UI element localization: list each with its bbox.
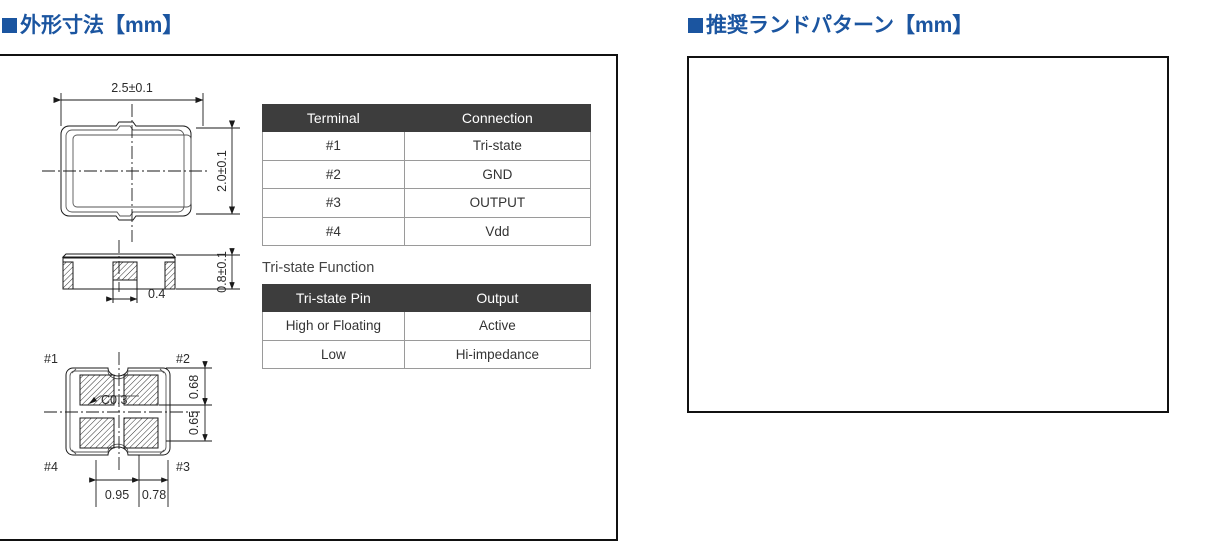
- column-header-tristate-pin: Tri-state Pin: [263, 285, 405, 312]
- bottom-view-chamfer-label: C0.3: [101, 393, 127, 407]
- tristate-function-label: Tri-state Function: [262, 260, 374, 276]
- table-header-row: Terminal Connection: [263, 105, 591, 132]
- table-row: Low Hi-impedance: [263, 340, 591, 369]
- top-view-drawing: 2.5±0.1 2.0±0.1: [42, 81, 240, 242]
- side-view-height-dim: 0.8±0.1: [215, 251, 229, 293]
- cell-output: Hi-impedance: [404, 340, 590, 369]
- side-view-drawing: 0.4 0.8±0.1: [63, 240, 240, 303]
- column-header-terminal: Terminal: [263, 105, 405, 132]
- cell-tristate-pin: Low: [263, 340, 405, 369]
- column-header-connection: Connection: [404, 105, 590, 132]
- cell-connection: Vdd: [404, 217, 590, 246]
- table-row: #4 Vdd: [263, 217, 591, 246]
- table-row: #2 GND: [263, 160, 591, 189]
- bottom-view-drawing: C0.3 #1 #2 #3 #4 0.68 0.65 0.95 0.78: [44, 352, 212, 507]
- cell-terminal: #2: [263, 160, 405, 189]
- pin-label-1: #1: [44, 352, 58, 366]
- top-view-height-dim: 2.0±0.1: [215, 150, 229, 192]
- pin-label-3: #3: [176, 460, 190, 474]
- pin-label-2: #2: [176, 352, 190, 366]
- land-pattern-panel: [687, 56, 1169, 413]
- table-row: High or Floating Active: [263, 312, 591, 341]
- table-row: #3 OUTPUT: [263, 189, 591, 218]
- cell-output: Active: [404, 312, 590, 341]
- top-view-width-dim: 2.5±0.1: [111, 81, 153, 95]
- table-header-row: Tri-state Pin Output: [263, 285, 591, 312]
- table-row: #1 Tri-state: [263, 132, 591, 161]
- bottom-view-dim-078: 0.78: [142, 488, 166, 502]
- pin-label-4: #4: [44, 460, 58, 474]
- cell-tristate-pin: High or Floating: [263, 312, 405, 341]
- cell-terminal: #3: [263, 189, 405, 218]
- bottom-view-dim-065: 0.65: [187, 411, 201, 435]
- side-view-pad-dim: 0.4: [148, 287, 165, 301]
- cell-terminal: #1: [263, 132, 405, 161]
- cell-connection: OUTPUT: [404, 189, 590, 218]
- cell-terminal: #4: [263, 217, 405, 246]
- bottom-view-dim-095: 0.95: [105, 488, 129, 502]
- cell-connection: Tri-state: [404, 132, 590, 161]
- cell-connection: GND: [404, 160, 590, 189]
- bottom-view-dim-068: 0.68: [187, 375, 201, 399]
- tristate-function-table: Tri-state Pin Output High or Floating Ac…: [262, 284, 591, 369]
- terminal-connection-table: Terminal Connection #1 Tri-state #2 GND …: [262, 104, 591, 246]
- column-header-output: Output: [404, 285, 590, 312]
